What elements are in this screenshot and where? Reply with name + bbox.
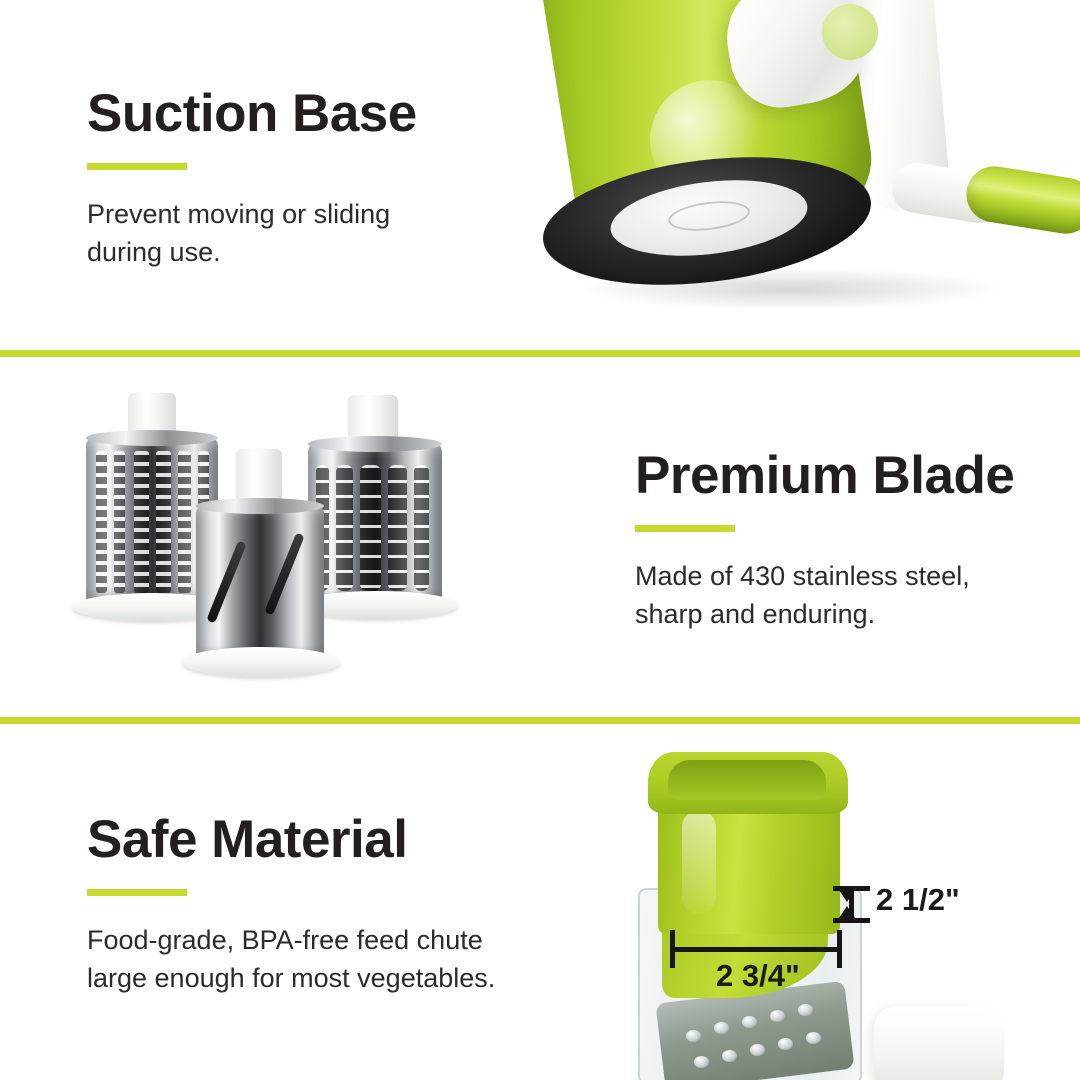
grater-white-body [874,1006,1004,1080]
grate-stud [742,1016,757,1028]
width-dimension-label: 2 3/4" [716,958,800,994]
section-divider-2 [0,717,1080,724]
width-dimension-line [670,947,842,952]
drum-top-cap [86,430,218,446]
grate-stud [806,1032,821,1044]
suction-base-product-photo [500,0,1080,345]
feed-chute-opening [668,760,826,800]
suction-base-accent-rule [87,163,187,170]
premium-blade-body: Made of 430 stainless steel, sharp and e… [635,557,1014,634]
safe-material-heading: Safe Material [87,812,495,868]
suction-base-text-block: Suction Base Prevent moving or sliding d… [87,86,417,298]
drum-steel-surface [196,505,324,663]
shred-teeth-column [114,451,125,593]
grate-stud [694,1056,709,1068]
grate-hole-column [360,465,381,591]
knob-green-inset-icon [822,4,878,60]
shred-teeth-column [134,451,149,593]
crank-handle-grip [962,162,1080,237]
grate-stud [750,1044,765,1056]
shred-teeth-column [156,451,171,593]
grate-stud [722,1050,737,1062]
grate-stud [686,1030,701,1042]
grate-stud [714,1022,729,1034]
grate-hole-column [336,465,353,591]
feed-chute-highlight [682,810,716,914]
safe-material-accent-rule [87,889,187,896]
grate-stud [770,1010,785,1022]
suction-base-body: Prevent moving or sliding during use. [87,195,417,272]
grate-stud [778,1038,793,1050]
safe-material-body: Food-grade, BPA-free feed chute large en… [87,921,495,998]
height-dimension-arrow-up-icon [839,890,855,902]
slicer-drum [196,505,324,663]
safe-material-text-block: Safe Material Food-grade, BPA-free feed … [87,812,495,1024]
premium-blade-text-block: Premium Blade Made of 430 stainless stee… [635,448,1014,660]
premium-blade-accent-rule [635,525,735,532]
product-infographic: Suction Base Prevent moving or sliding d… [0,0,1080,1080]
section-divider-1 [0,350,1080,357]
shred-teeth-column [178,451,191,593]
suction-base-heading: Suction Base [87,86,417,142]
slicer-drum-foot [182,647,340,677]
grate-hole-column [414,465,429,591]
premium-blade-product-photo [60,385,490,705]
safe-material-product-photo: 2 3/4" 2 1/2" [590,730,1080,1080]
drum-top-cap [196,498,324,514]
grate-hole-column [388,465,407,591]
drum-top-cap [308,436,442,452]
grate-stud [798,1004,813,1016]
shred-teeth-column [96,451,107,593]
premium-blade-heading: Premium Blade [635,448,1014,504]
height-dimension-label: 2 1/2" [876,882,960,918]
height-dimension-arrow-down-icon [839,906,855,918]
coarse-grate-drum [308,443,442,607]
